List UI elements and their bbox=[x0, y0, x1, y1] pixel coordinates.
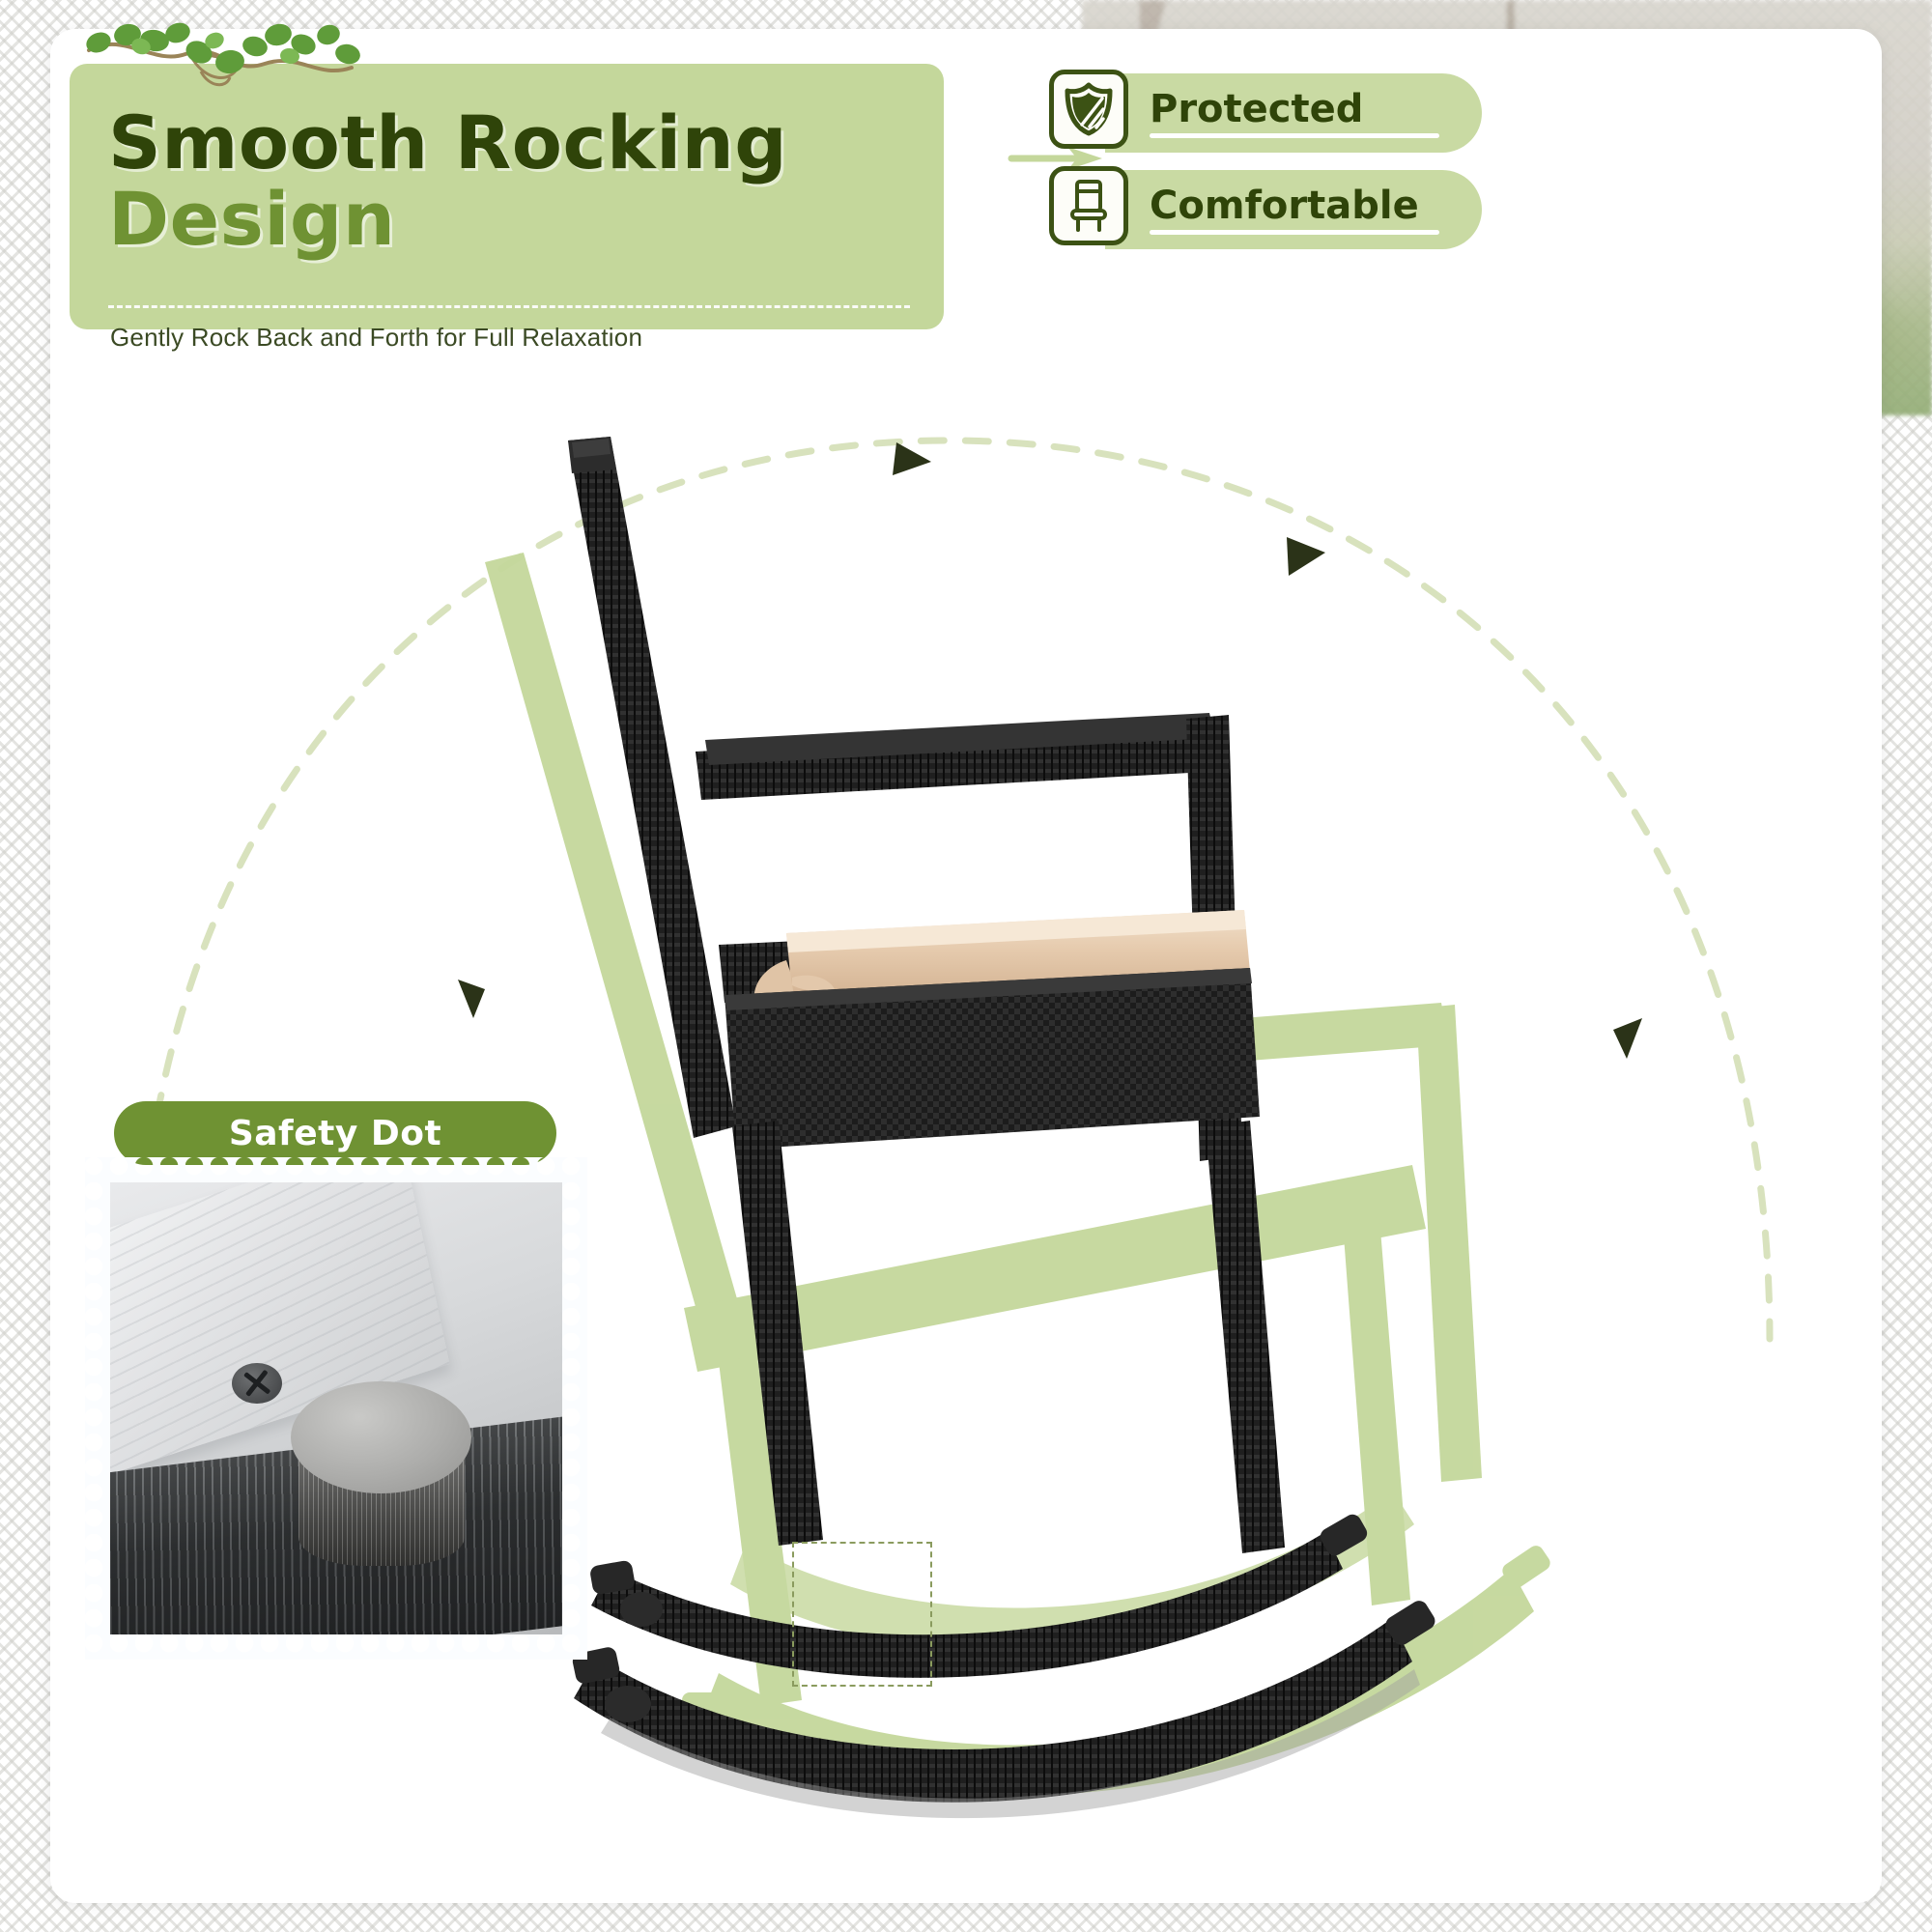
feature-badge-protected: Protected bbox=[1049, 70, 1363, 149]
badge-label-comfortable: Comfortable bbox=[1150, 184, 1419, 228]
title-wrap: Smooth Rocking Design bbox=[108, 108, 900, 255]
title-divider bbox=[108, 305, 910, 308]
safety-dot-cap bbox=[291, 1381, 471, 1562]
page-title-line-1: Smooth Rocking bbox=[108, 108, 900, 179]
badge-underline bbox=[1150, 230, 1439, 235]
page-title-line-2: Design bbox=[108, 185, 900, 255]
safety-dot-inset: Safety Dot bbox=[114, 1101, 674, 1642]
badge-label-protected: Protected bbox=[1150, 87, 1363, 131]
infographic-page: Smooth Rocking Design Gently Rock Back a… bbox=[0, 0, 1932, 1932]
header-panel: Smooth Rocking Design Gently Rock Back a… bbox=[70, 64, 944, 329]
dot-cap-top bbox=[291, 1381, 471, 1493]
feature-badge-comfortable: Comfortable bbox=[1049, 166, 1419, 245]
safety-dot-label-pill: Safety Dot bbox=[114, 1101, 556, 1165]
screw-icon bbox=[232, 1363, 281, 1404]
photo-inner bbox=[110, 1182, 562, 1634]
safety-dot-label-text: Safety Dot bbox=[229, 1114, 441, 1153]
chair-icon bbox=[1049, 166, 1128, 245]
badge-underline bbox=[1150, 133, 1439, 138]
safety-dot-photo bbox=[85, 1157, 587, 1660]
page-subtitle: Gently Rock Back and Forth for Full Rela… bbox=[110, 323, 642, 353]
shield-icon bbox=[1049, 70, 1128, 149]
safety-dot-callout-box bbox=[792, 1542, 932, 1687]
